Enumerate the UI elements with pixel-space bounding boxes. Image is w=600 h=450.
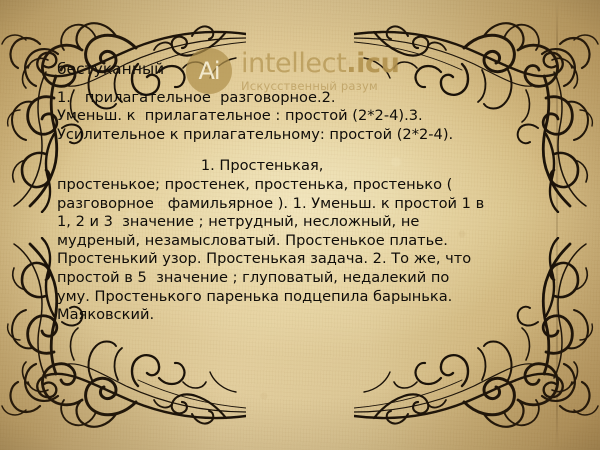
paper-fold-line: [556, 0, 558, 450]
entry-headword: бестуканный: [57, 60, 549, 79]
entry-definition: 1. Простенькая, простенькое; простенек, …: [57, 157, 549, 324]
entry-senses: 1. прилагательное разговорное.2. Уменьш.…: [57, 89, 549, 145]
dictionary-entry: бестуканный 1. прилагательное разговорно…: [57, 60, 549, 325]
document-page: Ai intellect.icu Искусственный разум бес…: [0, 0, 600, 450]
